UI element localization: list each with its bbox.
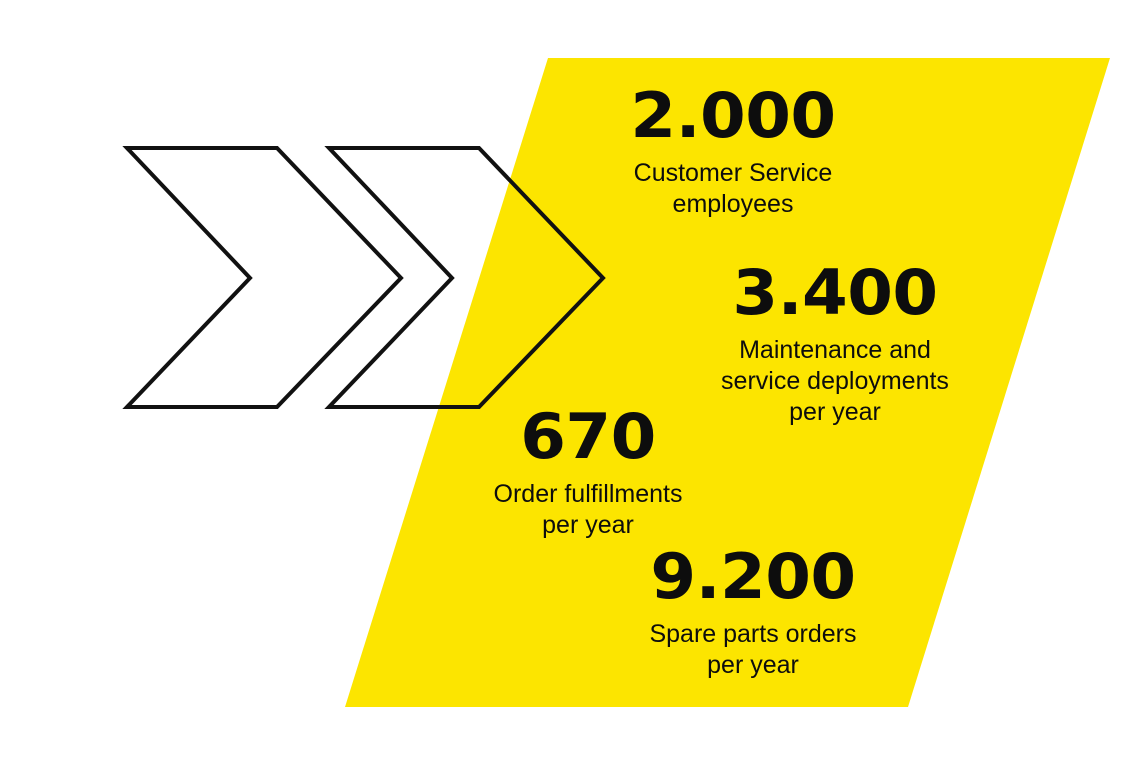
chevron-outline-1 — [127, 148, 401, 407]
stat-customer-service-value: 2.000 — [495, 85, 972, 147]
stat-customer-service: 2.000 Customer Service employees — [508, 85, 958, 220]
stat-customer-service-label: Customer Service employees — [508, 158, 958, 220]
stat-order-fulfillments: 670 Order fulfillments per year — [363, 406, 813, 541]
stat-order-fulfillments-label: Order fulfillments per year — [363, 479, 813, 541]
stat-spare-parts-value: 9.200 — [515, 546, 992, 608]
infographic-canvas: 2.000 Customer Service employees 3.400 M… — [0, 0, 1141, 759]
stat-maintenance-value: 3.400 — [597, 262, 1074, 324]
stat-order-fulfillments-value: 670 — [350, 406, 827, 468]
stat-spare-parts: 9.200 Spare parts orders per year — [528, 546, 978, 681]
stat-maintenance: 3.400 Maintenance and service deployment… — [610, 262, 1060, 427]
stat-spare-parts-label: Spare parts orders per year — [528, 619, 978, 681]
